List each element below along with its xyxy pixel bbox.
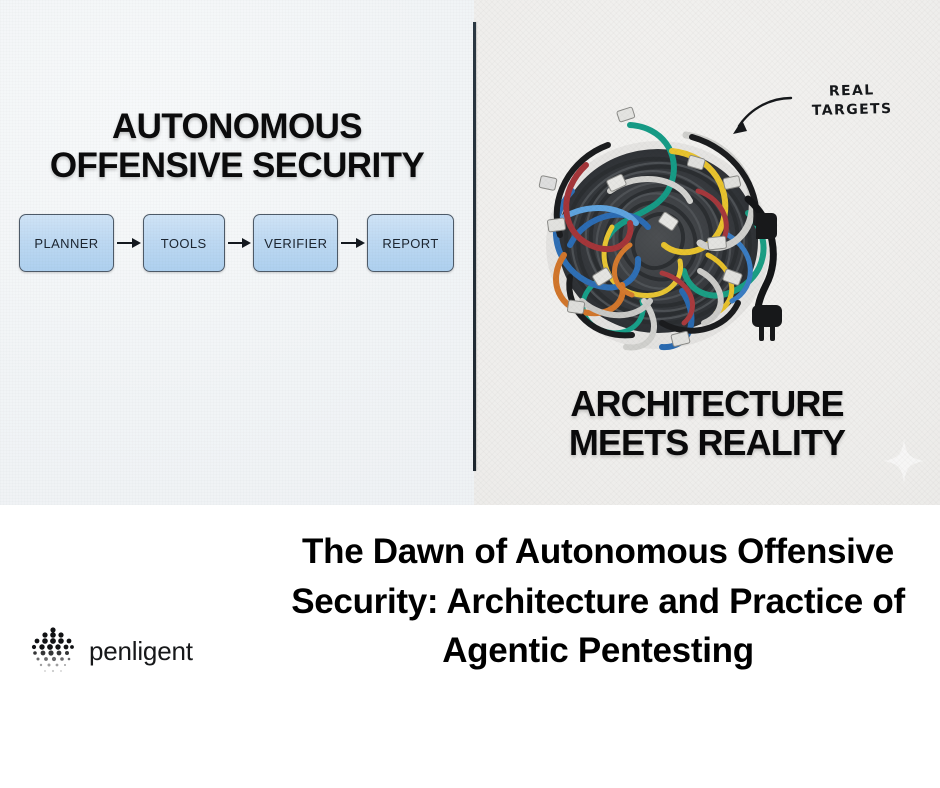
pipeline-step-label: PLANNER	[34, 236, 98, 251]
footer-section: penligent The Dawn of Autonomous Offensi…	[0, 505, 940, 788]
brand-name-label: penligent	[89, 636, 193, 667]
article-title: The Dawn of Autonomous Offensive Securit…	[268, 527, 928, 676]
real-targets-annotation: REAL TARGETS	[792, 80, 913, 121]
pipeline-step-label: VERIFIER	[264, 236, 327, 251]
pipeline-step-report: REPORT	[367, 214, 454, 272]
arrow-right-icon	[225, 237, 254, 249]
hero-left-panel: AUTONOMOUS OFFENSIVE SECURITY PLANNER TO…	[0, 0, 474, 505]
arrow-right-icon	[114, 237, 143, 249]
pipeline-diagram: PLANNER TOOLS VERIFIER REPORT	[19, 214, 454, 272]
left-panel-headline: AUTONOMOUS OFFENSIVE SECURITY	[0, 107, 474, 185]
hero-banner: AUTONOMOUS OFFENSIVE SECURITY PLANNER TO…	[0, 0, 940, 505]
panel-divider	[473, 22, 476, 471]
annotation-arrow-icon	[725, 92, 795, 147]
pipeline-step-label: REPORT	[382, 236, 438, 251]
hero-right-panel: REAL TARGETS ARCHITECTURE MEETS REALITY	[474, 0, 940, 505]
pipeline-step-tools: TOOLS	[143, 214, 225, 272]
penligent-logo-icon	[28, 625, 78, 677]
right-panel-headline: ARCHITECTURE MEETS REALITY	[474, 385, 940, 463]
pipeline-step-label: TOOLS	[161, 236, 207, 251]
sparkle-icon	[884, 439, 924, 483]
pipeline-step-planner: PLANNER	[19, 214, 114, 272]
brand-lockup[interactable]: penligent	[28, 625, 193, 677]
arrow-right-icon	[338, 237, 367, 249]
pipeline-step-verifier: VERIFIER	[253, 214, 338, 272]
